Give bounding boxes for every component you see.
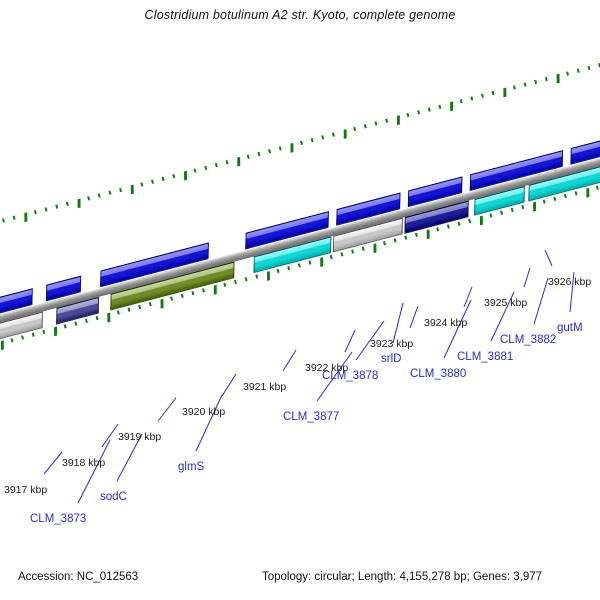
scale-tick [492, 91, 495, 95]
scale-tick [500, 210, 503, 214]
scale-tick [202, 288, 205, 292]
scale-tick [447, 224, 450, 228]
scale-tick [353, 127, 356, 131]
scale-tick [311, 138, 314, 142]
scale-tick [257, 152, 260, 156]
scale-tick [308, 260, 311, 264]
scale-tick [489, 213, 492, 217]
scale-tick [138, 305, 141, 309]
scale-tick [596, 186, 599, 190]
scale-tick [64, 324, 67, 328]
scale-tick [298, 263, 301, 267]
scale-tick [383, 241, 386, 245]
scale-tick [54, 326, 57, 336]
scale-tick [586, 188, 589, 198]
scale-tick [85, 319, 88, 323]
scale-tick [545, 77, 548, 81]
coordinate-label-3922: 3922 kbp [305, 362, 348, 374]
scale-tick [140, 182, 143, 186]
scale-tick [534, 80, 537, 84]
scale-tick [223, 283, 226, 287]
scale-tick [247, 155, 250, 159]
scale-tick [458, 222, 461, 226]
scale-tick [521, 205, 524, 209]
coordinate-label-3921: 3921 kbp [243, 381, 286, 393]
scale-tick [234, 280, 237, 284]
scale-tick [553, 197, 556, 201]
coordinate-label-3924: 3924 kbp [424, 317, 467, 329]
scale-tick [566, 71, 569, 75]
coordinate-label-3917: 3917 kbp [4, 484, 47, 496]
scale-tick [255, 274, 258, 278]
scale-tick [32, 332, 35, 336]
scale-tick [170, 296, 173, 300]
scale-tick [268, 149, 271, 153]
scale-tick [267, 271, 270, 281]
scale-tick [78, 198, 81, 208]
scale-tick [321, 135, 324, 139]
coordinate-label-3925: 3925 kbp [484, 297, 527, 309]
scale-tick [300, 141, 303, 145]
scale-tick [460, 99, 463, 103]
scale-tick [226, 160, 229, 164]
scale-tick [351, 249, 354, 253]
scale-tick [290, 143, 293, 153]
scale-tick [162, 177, 165, 181]
scale-tick [375, 121, 378, 125]
scale-tick [450, 101, 453, 111]
scale-tick [320, 257, 323, 267]
scale-tick [149, 302, 152, 306]
scale-tick [543, 199, 546, 203]
scale-tick [21, 335, 24, 339]
accession-text: Accession: NC_012563 [18, 571, 138, 583]
gene-label-clm_3881[interactable]: CLM_3881 [457, 351, 513, 363]
scale-tick [340, 252, 343, 256]
scale-tick [245, 277, 248, 281]
scale-tick [468, 219, 471, 223]
scale-tick [513, 85, 516, 89]
scale-tick [577, 69, 580, 73]
gene-label-clm_3873[interactable]: CLM_3873 [30, 513, 86, 525]
scale-tick [117, 310, 120, 314]
scale-tick [34, 210, 37, 214]
scale-tick [344, 129, 347, 139]
scale-tick [279, 146, 282, 150]
scale-tick [119, 188, 122, 192]
scale-tick [587, 66, 590, 70]
scale-tick [128, 308, 131, 312]
scale-tick [161, 299, 164, 309]
scale-tick [2, 218, 5, 222]
coordinate-label-3918: 3918 kbp [62, 457, 105, 469]
gene-label-clm_3882[interactable]: CLM_3882 [500, 334, 556, 346]
scale-tick [45, 207, 48, 211]
scale-tick [428, 107, 431, 111]
scale-tick [66, 202, 69, 206]
scale-tick [42, 330, 45, 334]
scale-tick [404, 235, 407, 239]
gene-label-srld[interactable]: srlD [381, 353, 401, 365]
coordinate-label-3919: 3919 kbp [118, 431, 161, 443]
scale-tick [373, 243, 376, 253]
scale-tick [436, 227, 439, 231]
gene-label-gutm[interactable]: gutM [557, 322, 583, 334]
scale-tick [417, 110, 420, 114]
scale-tick [503, 87, 506, 97]
scale-tick [184, 171, 187, 181]
scale-tick [1, 340, 4, 350]
scale-tick [215, 163, 218, 167]
scale-tick [13, 216, 16, 220]
scale-tick [172, 174, 175, 178]
scale-tick [330, 255, 333, 259]
scale-tick [557, 74, 560, 84]
scale-tick [427, 229, 430, 239]
scale-tick [194, 168, 197, 172]
page-title: Clostridium botulinum A2 str. Kyoto, com… [0, 8, 600, 22]
scale-tick [107, 313, 110, 323]
gene-label-sodc[interactable]: sodC [100, 491, 127, 503]
scale-tick [131, 184, 134, 194]
scale-tick [524, 82, 527, 86]
scale-tick [533, 202, 536, 212]
genome-summary-text: Topology: circular; Length: 4,155,278 bp… [262, 571, 542, 583]
scale-tick [151, 179, 154, 183]
scale-tick [397, 115, 400, 125]
scale-tick [98, 193, 101, 197]
coordinate-label-3926: 3926 kbp [548, 276, 591, 288]
scale-tick [108, 191, 111, 195]
scale-tick [96, 316, 99, 320]
scale-tick [480, 215, 483, 225]
scale-tick [470, 96, 473, 100]
scale-tick [364, 124, 367, 128]
scale-tick [181, 294, 184, 298]
scale-tick [74, 321, 77, 325]
scale-tick [481, 94, 484, 98]
scale-tick [575, 191, 578, 195]
genome-viewer: Clostridium botulinum A2 str. Kyoto, com… [0, 0, 600, 600]
scale-tick [55, 204, 58, 208]
gene-label-glms[interactable]: glmS [178, 461, 204, 473]
coordinate-label-3920: 3920 kbp [182, 406, 225, 418]
scale-tick [332, 132, 335, 136]
scale-tick [87, 196, 90, 200]
scale-tick [24, 212, 27, 222]
scale-tick [191, 291, 194, 295]
scale-tick [204, 166, 207, 170]
scale-tick [10, 338, 13, 342]
scale-tick [438, 105, 441, 109]
gene-label-clm_3877[interactable]: CLM_3877 [283, 411, 339, 423]
scale-tick [362, 247, 365, 251]
scale-tick [287, 266, 290, 270]
gene-label-clm_3880[interactable]: CLM_3880 [410, 368, 466, 380]
coordinate-label-3923: 3923 kbp [370, 338, 413, 350]
scale-tick [385, 118, 388, 122]
scale-tick [237, 157, 240, 167]
scale-tick [564, 194, 567, 198]
scale-tick [394, 238, 397, 242]
scale-tick [214, 285, 217, 295]
scale-tick [415, 233, 418, 237]
scale-tick [511, 208, 514, 212]
scale-tick [277, 269, 280, 273]
scale-tick [406, 113, 409, 117]
